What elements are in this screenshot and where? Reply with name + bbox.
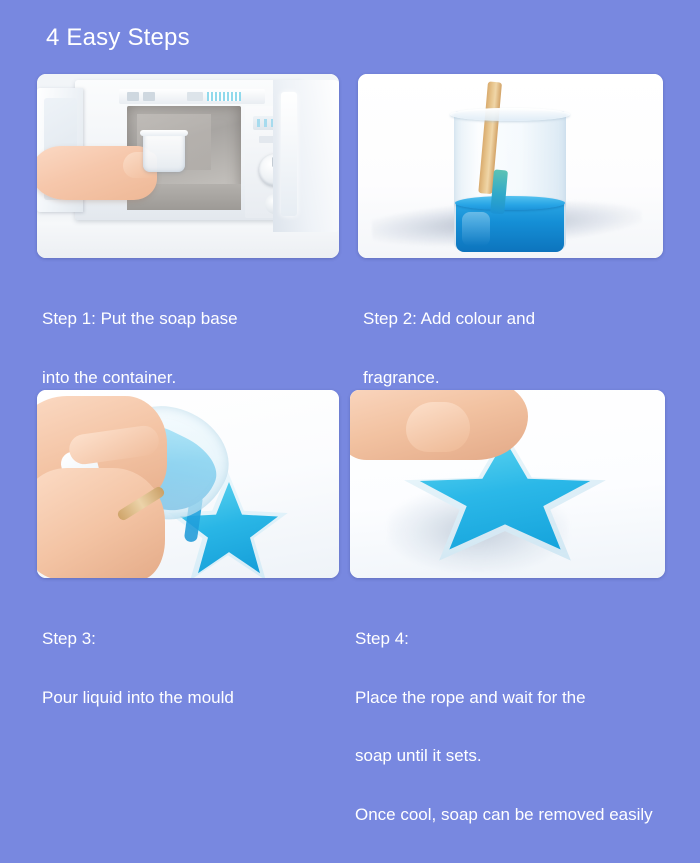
knuckle [406, 402, 470, 452]
caption-line: Step 2: Add colour and [363, 309, 555, 329]
hand-lower [37, 468, 165, 578]
caption-line: soap until it sets. [355, 746, 653, 766]
liquid-surface [455, 196, 565, 210]
microwave-scene [37, 74, 339, 258]
caption-line: Step 1: Put the soap base [42, 309, 281, 329]
beaker-rim [450, 108, 570, 121]
caption-line: Once cool, soap can be removed easily [355, 805, 653, 825]
caption-line: fragrance. [363, 368, 555, 388]
soap-base-container [143, 132, 185, 172]
caption-line: Step 3: [42, 629, 234, 649]
panel-sticker-2 [143, 92, 155, 101]
caption-line: Pour liquid into the mould [42, 688, 234, 708]
finished-soap-scene [350, 390, 665, 578]
microwave-side-panel [273, 80, 339, 232]
step-4-photo [350, 390, 665, 578]
pouring-scene [37, 390, 339, 578]
page-title: 4 Easy Steps [46, 24, 190, 52]
instruction-poster: 4 Easy Steps [0, 0, 700, 700]
beaker-scene [358, 74, 663, 258]
panel-sticker-3 [187, 92, 203, 101]
step-4-caption: Step 4: Place the rope and wait for the … [355, 590, 653, 863]
liquid-highlight [462, 212, 490, 246]
panel-sticker-1 [127, 92, 139, 101]
caption-line: into the container. [42, 368, 281, 388]
step-2-photo [358, 74, 663, 258]
caption-line: Place the rope and wait for the [355, 688, 653, 708]
step-3-caption: Step 3: Pour liquid into the mould [42, 590, 234, 746]
caption-line: Step 4: [355, 629, 653, 649]
step-1-photo [37, 74, 339, 258]
step-3-photo [37, 390, 339, 578]
